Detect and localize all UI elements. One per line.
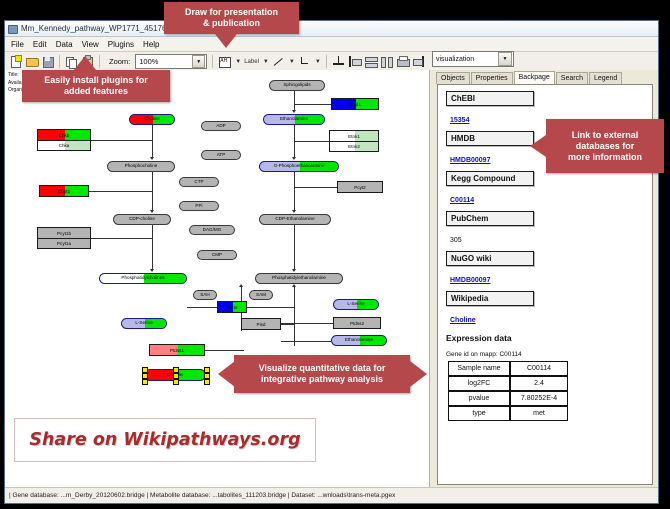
datanode-tool-caret[interactable]: ▼ — [235, 59, 241, 65]
expr-value: 7.80252E-4 — [510, 391, 568, 406]
pathway-metabolite-node[interactable]: L-Serine — [121, 318, 167, 329]
node-label: Chkb — [59, 133, 70, 138]
node-label: Phosphocholine — [125, 164, 158, 169]
callout-plugins-stem — [79, 66, 91, 74]
pathway-edge — [294, 91, 295, 111]
pathway-gene-node[interactable]: Pisd — [241, 318, 281, 330]
visualization-value: visualization — [436, 56, 474, 63]
pathway-metabolite-node[interactable]: ADP — [201, 121, 241, 131]
gene-node-row[interactable]: Etnk1 — [329, 130, 379, 141]
db-header-wikipedia: Wikipedia — [446, 291, 534, 306]
menu-file[interactable]: File — [11, 40, 24, 49]
menu-view[interactable]: View — [82, 40, 99, 49]
pathway-metabolite-node[interactable]: Phosphatidylcholines — [99, 273, 187, 284]
align-columns-icon[interactable] — [380, 55, 393, 68]
gene-node-row[interactable]: Chkb — [37, 129, 91, 140]
node-label: Ethanolamine — [345, 338, 373, 343]
pathway-metabolite-node[interactable]: CMP — [197, 250, 237, 260]
line-tool-icon[interactable] — [272, 55, 285, 68]
gene-node-row[interactable]: Etnk2 — [329, 141, 379, 152]
node-label: L-Serine — [135, 321, 152, 326]
callout-links-line1: Link to external — [568, 130, 642, 141]
node-label: CDP-choline — [129, 217, 155, 222]
db-header-kegg: Kegg Compound — [446, 171, 534, 186]
window-titlebar: Mm_Kennedy_pathway_WP1771_45176.gpml — [5, 21, 658, 37]
expression-data-heading: Expression data — [446, 333, 652, 343]
arrowhead-icon — [292, 269, 296, 272]
arrowhead-icon — [292, 110, 296, 113]
menubar: File Edit Data View Plugins Help — [5, 37, 658, 52]
align-center-icon[interactable] — [332, 55, 345, 68]
pathway-metabolite-node[interactable]: CDP-choline — [113, 214, 171, 225]
db-link-kegg[interactable]: C00114 — [450, 197, 474, 204]
pathvisio-icon — [8, 24, 17, 33]
node-label: CMP — [212, 253, 222, 258]
line-tool-caret[interactable]: ▼ — [289, 59, 295, 65]
pathway-edge — [281, 324, 294, 325]
callout-visualize-arrow-left — [218, 361, 235, 387]
toolbar-separator — [326, 55, 327, 68]
pathway-metabolite-node[interactable]: PPi — [179, 201, 219, 211]
callout-plugins: Easily install plugins for added feature… — [22, 70, 170, 102]
pathway-gene-node[interactable]: Sgpl1 — [331, 98, 379, 110]
db-link-hmdb[interactable]: HMDB00097 — [450, 157, 490, 164]
interaction-tool-caret[interactable]: ▼ — [315, 59, 321, 65]
db-header-hmdb: HMDB — [446, 131, 534, 146]
node-label: Sgpl1 — [349, 102, 361, 107]
node-label: Pisd — [257, 322, 266, 327]
label-tool-caret[interactable]: ▼ — [263, 59, 269, 65]
arrowhead-icon — [150, 157, 154, 160]
db-header-pubchem: PubChem — [446, 211, 534, 226]
menu-help[interactable]: Help — [143, 40, 159, 49]
label-tool-label[interactable]: Label — [244, 59, 259, 65]
node-label: Etnk1 — [348, 134, 360, 139]
statusbar: | Gene database: ...m_Derby_20120602.bri… — [5, 487, 658, 503]
tab-legend[interactable]: Legend — [589, 72, 622, 84]
pathway-edge — [91, 238, 152, 239]
gene-node-row[interactable]: Chpt1 — [39, 185, 89, 197]
db-value-pubchem: 305 — [450, 237, 462, 244]
pathway-edge — [247, 307, 294, 308]
node-label: Phosphatidylethanolamine — [272, 276, 326, 281]
db-link-wikipedia[interactable]: Choline — [450, 317, 476, 324]
node-label: Pcyt1a — [57, 241, 71, 246]
node-label: Sphingolipids — [283, 83, 310, 88]
zoom-label: Zoom: — [109, 57, 130, 66]
tab-search[interactable]: Search — [556, 72, 588, 84]
pathway-metabolite-node[interactable]: Ethanolamine — [331, 335, 387, 346]
wikipathways-banner-text: Share on Wikipathways.org — [29, 430, 300, 450]
pathway-edge — [294, 285, 295, 346]
pathway-gene-node[interactable]: Etnk1Etnk2 — [329, 130, 379, 152]
node-label: CTP — [194, 180, 203, 185]
table-row: pvalue 7.80252E-4 — [448, 391, 568, 406]
pathway-gene-node[interactable]: Pcyt1bPcyt1a — [37, 227, 91, 249]
align-right-icon[interactable] — [412, 55, 425, 68]
pathway-gene-node[interactable]: Pcyt2 — [337, 181, 383, 193]
visualization-combo[interactable]: visualization ▼ — [432, 51, 514, 67]
pathway-edge — [152, 172, 153, 211]
expr-key: log2FC — [448, 376, 510, 391]
node-label: ATP — [217, 153, 226, 158]
statusbar-text: | Gene database: ...m_Derby_20120602.bri… — [9, 492, 395, 499]
wikipathways-banner: Share on Wikipathways.org — [14, 418, 316, 462]
arrowhead-icon — [150, 210, 154, 213]
pathway-edge — [152, 225, 153, 270]
node-label: Pcyt1b — [57, 231, 71, 236]
callout-draw-arrow — [215, 34, 237, 48]
pathway-edge — [281, 341, 331, 342]
pathway-edge — [294, 172, 295, 211]
callout-links: Link to external databases for more info… — [546, 119, 664, 173]
new-icon[interactable] — [9, 55, 22, 68]
expr-value: C00114 — [510, 361, 568, 376]
arrowhead-icon — [292, 157, 296, 160]
callout-draw-line1: Draw for presentation — [185, 7, 278, 18]
expr-key: type — [448, 406, 510, 421]
datanode-tool-icon[interactable] — [218, 55, 231, 68]
pathway-gene-node[interactable]: Pemt — [217, 301, 247, 313]
screenshot-root: Mm_Kennedy_pathway_WP1771_45176.gpml Fil… — [0, 0, 670, 509]
pathway-edge — [294, 187, 337, 188]
db-header-chebi: ChEBI — [446, 91, 534, 106]
node-label: O-Phosphoethanolamine — [274, 164, 325, 169]
pathway-metabolite-node[interactable]: L-Serine — [333, 299, 379, 310]
callout-visualize-arrow-right — [410, 361, 427, 387]
callout-links-line2: databases for — [568, 141, 642, 152]
window-title: Mm_Kennedy_pathway_WP1771_45176.gpml — [21, 24, 186, 33]
table-row: log2FC 2.4 — [448, 376, 568, 391]
toolbar-separator — [99, 55, 100, 68]
selection-handle[interactable] — [173, 379, 179, 385]
open-icon[interactable] — [25, 55, 38, 68]
node-label: Ethanolamine — [280, 117, 308, 122]
node-label: DAG/MG — [203, 228, 222, 233]
pathway-metabolite-node[interactable]: SAM — [249, 290, 273, 300]
panel-tabstrip: Objects Properties Backpage Search Legen… — [430, 70, 658, 84]
callout-plugins-line1: Easily install plugins for — [44, 75, 148, 86]
db-header-nugo: NuGO wiki — [446, 251, 534, 266]
node-label: PPi — [195, 204, 202, 209]
callout-plugins-line2: added features — [44, 86, 148, 97]
pathway-metabolite-node[interactable]: CDP-Ethanolamine — [259, 214, 331, 225]
pathway-metabolite-node[interactable]: Sphingolipids — [269, 80, 325, 91]
gene-node-row[interactable]: Pcyt1b — [37, 227, 91, 238]
pathway-metabolite-node[interactable]: DAG/MG — [189, 225, 235, 235]
gene-id-on-mapp: Gene id on mapp: C00114 — [446, 351, 652, 358]
node-label: L-Serine — [347, 302, 364, 307]
callout-links-line3: more information — [568, 152, 642, 163]
db-link-chebi[interactable]: 15354 — [450, 117, 469, 124]
pathway-edge — [91, 140, 152, 141]
arrowhead-icon — [150, 269, 154, 272]
db-link-nugo[interactable]: HMDB00097 — [450, 277, 490, 284]
table-row: Sample name C00114 — [448, 361, 568, 376]
gene-node-row[interactable]: Sgpl1 — [331, 98, 379, 110]
gene-node-row[interactable]: Pcyt1a — [37, 238, 91, 249]
arrowhead-icon — [239, 284, 243, 287]
align-stack-icon[interactable] — [364, 55, 377, 68]
pathway-metabolite-node[interactable]: Phosphocholine — [107, 161, 175, 172]
expr-key: Sample name — [448, 361, 510, 376]
print-icon[interactable] — [396, 55, 409, 68]
pathway-metabolite-node[interactable]: Phosphatidylethanolamine — [255, 273, 343, 284]
chevron-down-icon: ▼ — [498, 52, 512, 66]
pathway-gene-node[interactable]: Chpt1 — [39, 185, 89, 197]
node-label: Chpt1 — [58, 189, 70, 194]
toolbar-separator — [212, 55, 213, 68]
pathway-edge — [294, 141, 329, 142]
node-label: Pcyt2 — [354, 185, 366, 190]
pathway-edge — [152, 125, 153, 158]
callout-draw: Draw for presentation & publication — [164, 2, 299, 34]
node-label: Ptdss1 — [170, 348, 184, 353]
menu-edit[interactable]: Edit — [33, 40, 47, 49]
gene-node-row[interactable]: Chka — [37, 140, 91, 151]
chevron-down-icon: ▼ — [192, 55, 205, 68]
pathway-edge — [294, 225, 295, 270]
tab-properties[interactable]: Properties — [471, 72, 513, 84]
pathway-metabolite-node[interactable]: O-Phosphoethanolamine — [259, 161, 339, 172]
callout-links-arrow — [530, 135, 546, 157]
callout-visualize-line2: integrative pathway analysis — [259, 374, 386, 385]
save-icon[interactable] — [41, 55, 54, 68]
node-label: SAH — [200, 293, 209, 298]
node-label: ADP — [216, 124, 225, 129]
node-label: CDP-Ethanolamine — [275, 217, 314, 222]
pathway-edge — [205, 350, 244, 351]
zoom-value: 100% — [139, 57, 158, 66]
expression-table: Sample name C00114 log2FC 2.4 pvalue 7.8… — [448, 361, 568, 421]
node-label: Phosphatidylcholines — [121, 276, 164, 281]
selection-handle[interactable] — [204, 379, 210, 385]
pathway-metabolite-node[interactable]: Choline — [129, 114, 175, 125]
pathway-gene-node[interactable]: Ptdss2 — [333, 317, 381, 329]
node-label: Ptdss2 — [350, 321, 364, 326]
pathway-gene-node[interactable]: Ptdss1 — [149, 344, 205, 356]
menu-data[interactable]: Data — [56, 40, 73, 49]
expr-key: pvalue — [448, 391, 510, 406]
pathway-edge — [187, 307, 217, 308]
callout-draw-line2: & publication — [185, 18, 278, 29]
pathway-metabolite-node[interactable]: CTP — [179, 177, 219, 187]
toolbar: Zoom: 100% ▼ ▼ Label ▼ ▼ ▼ — [5, 52, 658, 72]
node-label: Etnk2 — [348, 144, 360, 149]
node-label: SAM — [256, 293, 266, 298]
pathway-edge — [89, 191, 152, 192]
table-row: type met — [448, 406, 568, 421]
pathway-edge — [294, 104, 331, 105]
expr-value: 2.4 — [510, 376, 568, 391]
gene-node-row[interactable]: Ptdss2 — [333, 317, 381, 329]
selection-handle[interactable] — [142, 379, 148, 385]
node-label: Pemt — [227, 305, 238, 310]
menu-plugins[interactable]: Plugins — [108, 40, 134, 49]
arrowhead-icon — [292, 210, 296, 213]
node-label: Choline — [144, 117, 160, 122]
gene-node-row[interactable]: Ptdss1 — [149, 344, 205, 356]
expr-value: met — [510, 406, 568, 421]
gene-node-row[interactable]: Pisd — [241, 318, 281, 330]
toolbar-separator — [59, 55, 60, 68]
node-label: Chka — [59, 143, 70, 148]
pathway-metabolite-node[interactable]: Ethanolamine — [263, 114, 325, 125]
align-left-icon[interactable] — [348, 55, 361, 68]
pathway-gene-node[interactable]: ChkbChka — [37, 129, 91, 151]
arrowhead-icon — [292, 284, 296, 287]
tab-backpage[interactable]: Backpage — [514, 71, 555, 84]
interaction-tool-icon[interactable] — [298, 55, 311, 68]
gene-node-row[interactable]: Pcyt2 — [337, 181, 383, 193]
pathway-metabolite-node[interactable]: ATP — [201, 150, 241, 160]
pathway-metabolite-node[interactable]: SAH — [193, 290, 217, 300]
gene-node-row[interactable]: Pemt — [217, 301, 247, 313]
callout-visualize-line1: Visualize quantitative data for — [259, 363, 386, 374]
zoom-combo[interactable]: 100% ▼ — [135, 54, 207, 69]
tab-objects[interactable]: Objects — [436, 72, 470, 84]
callout-visualize: Visualize quantitative data for integrat… — [234, 355, 410, 393]
